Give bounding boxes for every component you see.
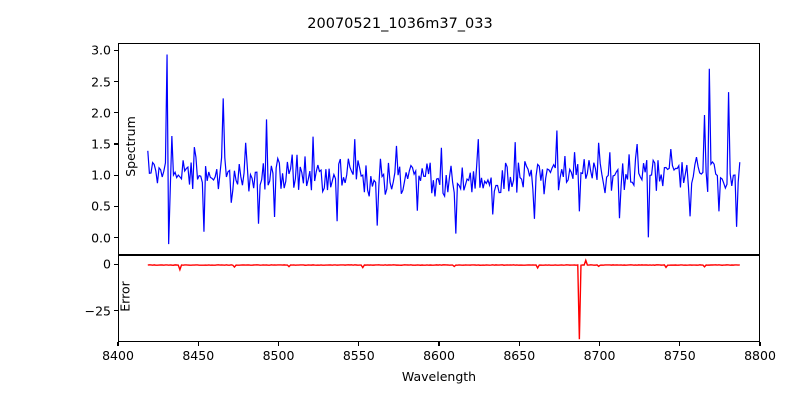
matplotlib-figure: 20070521_1036m37_033 0.00.51.01.52.02.53… <box>0 0 800 400</box>
figure-title: 20070521_1036m37_033 <box>0 16 800 32</box>
y-tick-label: −25 <box>85 303 111 318</box>
x-tick-label: 8750 <box>664 348 696 363</box>
x-axis-label: Wavelength <box>118 369 760 384</box>
x-tick-label: 8600 <box>423 348 455 363</box>
y-tick-label: 1.0 <box>91 168 111 183</box>
x-tick-mark <box>679 342 680 346</box>
x-tick-label: 8500 <box>263 348 295 363</box>
y-tick-label: 0.5 <box>91 199 111 214</box>
x-tick-mark <box>759 342 760 346</box>
x-tick-label: 8700 <box>584 348 616 363</box>
spectrum-trace <box>148 55 740 245</box>
spectrum-line-series <box>119 44 759 254</box>
x-tick-label: 8450 <box>182 348 214 363</box>
y-tick-label: 2.0 <box>91 105 111 120</box>
spectrum-plot-area <box>118 43 760 255</box>
x-tick-label: 8550 <box>343 348 375 363</box>
y-tick-label: 3.0 <box>91 43 111 58</box>
y-tick-label: 2.5 <box>91 74 111 89</box>
x-tick-mark <box>438 342 439 346</box>
error-plot-area <box>118 255 760 342</box>
x-tick-label: 8400 <box>102 348 134 363</box>
x-tick-mark <box>278 342 279 346</box>
x-tick-mark <box>599 342 600 346</box>
x-tick-mark <box>117 342 118 346</box>
x-tick-label: 8650 <box>503 348 535 363</box>
y-tick-label: 0.0 <box>91 230 111 245</box>
y-tick-label: 0 <box>103 257 111 272</box>
error-line-series <box>119 256 759 341</box>
x-tick-label: 8800 <box>744 348 776 363</box>
error-trace <box>148 260 740 339</box>
x-tick-mark <box>519 342 520 346</box>
x-tick-mark <box>358 342 359 346</box>
x-tick-mark <box>198 342 199 346</box>
y-tick-label: 1.5 <box>91 137 111 152</box>
